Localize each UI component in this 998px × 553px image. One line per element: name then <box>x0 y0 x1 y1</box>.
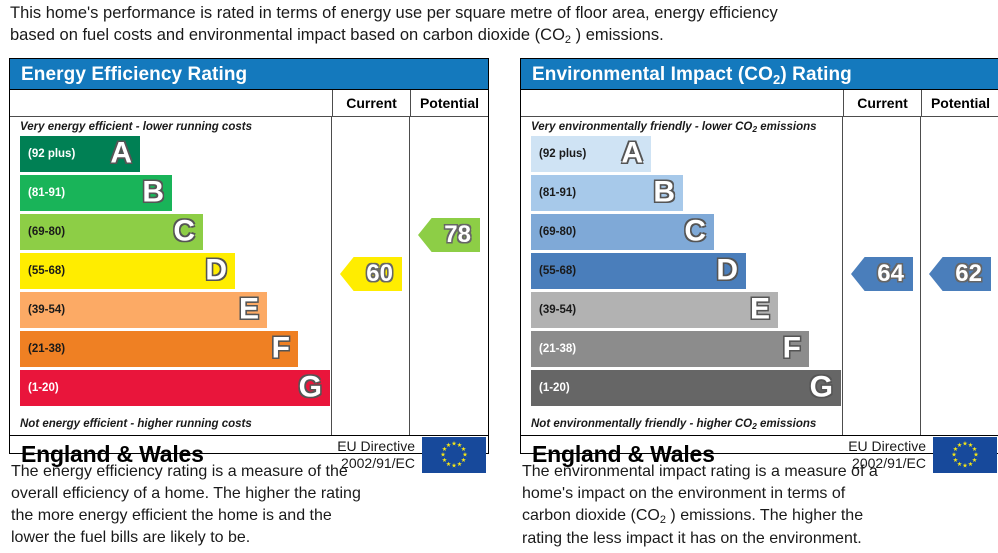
band-letter-label: A <box>110 138 132 168</box>
environmental-bottom-caption-subscript: 2 <box>752 421 757 431</box>
band-row-a: (92 plus)A <box>20 136 140 172</box>
band-letter-label: F <box>783 333 801 363</box>
energy-potential-column: 78 <box>410 117 488 435</box>
band-range-label: (21-38) <box>531 343 576 355</box>
note-line: lower the fuel bills are likely to be. <box>11 527 491 549</box>
energy-bands-area: Very energy efficient - lower running co… <box>10 117 332 435</box>
environmental-current-header: Current <box>843 90 921 116</box>
band-letter-label: C <box>684 216 706 246</box>
environmental-bottom-caption: Not environmentally friendly - higher CO… <box>521 414 816 433</box>
environmental-top-caption-subscript: 2 <box>752 124 757 134</box>
band-row-d: (55-68)D <box>20 253 235 289</box>
band-range-label: (39-54) <box>531 304 576 316</box>
band-range-label: (92 plus) <box>20 148 75 160</box>
band-letter-label: D <box>205 255 227 285</box>
intro-line-2-b: ) emissions. <box>571 26 664 44</box>
band-range-label: (39-54) <box>20 304 65 316</box>
energy-potential-rating-marker: 78 <box>418 218 480 252</box>
band-row-e: (39-54)E <box>20 292 267 328</box>
co2-subscript: 2 <box>660 514 666 526</box>
band-range-label: (81-91) <box>531 187 576 199</box>
eu-star <box>963 441 968 446</box>
band-letter-label: G <box>810 372 833 402</box>
band-letter-label: E <box>239 294 259 324</box>
environmental-header-spacer <box>521 90 843 116</box>
band-range-label: (1-20) <box>20 382 59 394</box>
band-letter-label: E <box>750 294 770 324</box>
intro-paragraph: This home's performance is rated in term… <box>10 2 990 48</box>
eu-star <box>463 452 468 457</box>
band-range-label: (69-80) <box>531 226 576 238</box>
note-line: The environmental impact rating is a mea… <box>522 461 998 483</box>
band-letter-label: A <box>621 138 643 168</box>
environmental-directive-line-1: EU Directive <box>848 438 926 455</box>
epc-rating-page: This home's performance is rated in term… <box>0 0 998 553</box>
environmental-bottom-caption-b: emissions <box>757 418 816 430</box>
environmental-current-rating-marker: 64 <box>851 257 913 291</box>
band-letter-label: B <box>142 177 164 207</box>
environmental-potential-header: Potential <box>921 90 998 116</box>
note-line: carbon dioxide (CO2 ) emissions. The hig… <box>522 505 998 528</box>
note-line: The energy efficiency rating is a measur… <box>11 461 491 483</box>
band-row-e: (39-54)E <box>531 292 778 328</box>
energy-directive-line-1: EU Directive <box>337 438 415 455</box>
eu-star <box>446 442 451 447</box>
eu-star <box>972 447 977 452</box>
band-row-g: (1-20)G <box>20 370 330 406</box>
co2-subscript: 2 <box>565 34 571 46</box>
eu-star <box>441 452 446 457</box>
band-row-b: (81-91)B <box>531 175 683 211</box>
environmental-chart-title: Environmental Impact (CO2) Rating <box>521 59 998 90</box>
band-row-c: (69-80)C <box>531 214 714 250</box>
environmental-bands-area: Very environmentally friendly - lower CO… <box>521 117 843 435</box>
band-range-label: (55-68) <box>20 265 65 277</box>
energy-current-rating-marker: 60 <box>340 257 402 291</box>
band-range-label: (55-68) <box>531 265 576 277</box>
eu-star <box>461 447 466 452</box>
environmental-chart-body: Very environmentally friendly - lower CO… <box>521 117 998 435</box>
eu-star <box>974 452 979 457</box>
band-row-d: (55-68)D <box>531 253 746 289</box>
energy-band-list: (92 plus)A(81-91)B(69-80)C(55-68)D(39-54… <box>10 136 331 406</box>
band-row-a: (92 plus)A <box>531 136 651 172</box>
band-letter-label: D <box>716 255 738 285</box>
band-letter-label: C <box>173 216 195 246</box>
environmental-top-caption: Very environmentally friendly - lower CO… <box>521 117 842 136</box>
eu-star <box>457 442 462 447</box>
band-range-label: (21-38) <box>20 343 65 355</box>
energy-column-header-row: Current Potential <box>10 90 488 117</box>
environmental-current-column: 64 <box>843 117 921 435</box>
band-range-label: (69-80) <box>20 226 65 238</box>
note-line: home's impact on the environment in term… <box>522 483 998 505</box>
eu-star <box>952 452 957 457</box>
energy-efficiency-chart: Energy Efficiency Rating Current Potenti… <box>9 58 489 454</box>
energy-bottom-caption: Not energy efficient - higher running co… <box>10 414 252 433</box>
energy-top-caption: Very energy efficient - lower running co… <box>10 117 331 136</box>
note-line: the more energy efficient the home is an… <box>11 505 491 527</box>
environmental-title-a: Environmental Impact (CO <box>532 64 773 85</box>
eu-star <box>968 442 973 447</box>
band-letter-label: F <box>272 333 290 363</box>
band-range-label: (1-20) <box>531 382 570 394</box>
energy-chart-title: Energy Efficiency Rating <box>10 59 488 90</box>
energy-current-header: Current <box>332 90 410 116</box>
note-line: rating the less impact it has on the env… <box>522 528 998 550</box>
environmental-description-note: The environmental impact rating is a mea… <box>522 461 998 550</box>
band-row-c: (69-80)C <box>20 214 203 250</box>
band-row-f: (21-38)F <box>20 331 298 367</box>
energy-chart-body: Very energy efficient - lower running co… <box>10 117 488 435</box>
environmental-top-caption-b: emissions <box>757 121 816 133</box>
band-row-f: (21-38)F <box>531 331 809 367</box>
environmental-top-caption-a: Very environmentally friendly - lower CO <box>531 121 752 133</box>
band-row-b: (81-91)B <box>20 175 172 211</box>
note-line: overall efficiency of a home. The higher… <box>11 483 491 505</box>
environmental-band-list: (92 plus)A(81-91)B(69-80)C(55-68)D(39-54… <box>521 136 842 406</box>
energy-description-note: The energy efficiency rating is a measur… <box>11 461 491 549</box>
intro-line-2-a: based on fuel costs and environmental im… <box>10 26 565 44</box>
environmental-title-subscript: 2 <box>773 72 780 87</box>
environmental-column-header-row: Current Potential <box>521 90 998 117</box>
eu-star <box>442 447 447 452</box>
band-letter-label: G <box>299 372 322 402</box>
energy-potential-header: Potential <box>410 90 488 116</box>
intro-line-2: based on fuel costs and environmental im… <box>10 24 990 48</box>
energy-header-spacer <box>10 90 332 116</box>
environmental-bottom-caption-a: Not environmentally friendly - higher CO <box>531 418 752 430</box>
band-letter-label: B <box>653 177 675 207</box>
environmental-impact-chart: Environmental Impact (CO2) Rating Curren… <box>520 58 998 454</box>
band-row-g: (1-20)G <box>531 370 841 406</box>
intro-line-1: This home's performance is rated in term… <box>10 4 778 22</box>
band-range-label: (92 plus) <box>531 148 586 160</box>
environmental-potential-column: 62 <box>921 117 998 435</box>
eu-star <box>953 447 958 452</box>
energy-current-column: 60 <box>332 117 410 435</box>
eu-star <box>957 442 962 447</box>
environmental-title-b: ) Rating <box>780 64 852 85</box>
eu-star <box>452 441 457 446</box>
band-range-label: (81-91) <box>20 187 65 199</box>
environmental-potential-rating-marker: 62 <box>929 257 991 291</box>
